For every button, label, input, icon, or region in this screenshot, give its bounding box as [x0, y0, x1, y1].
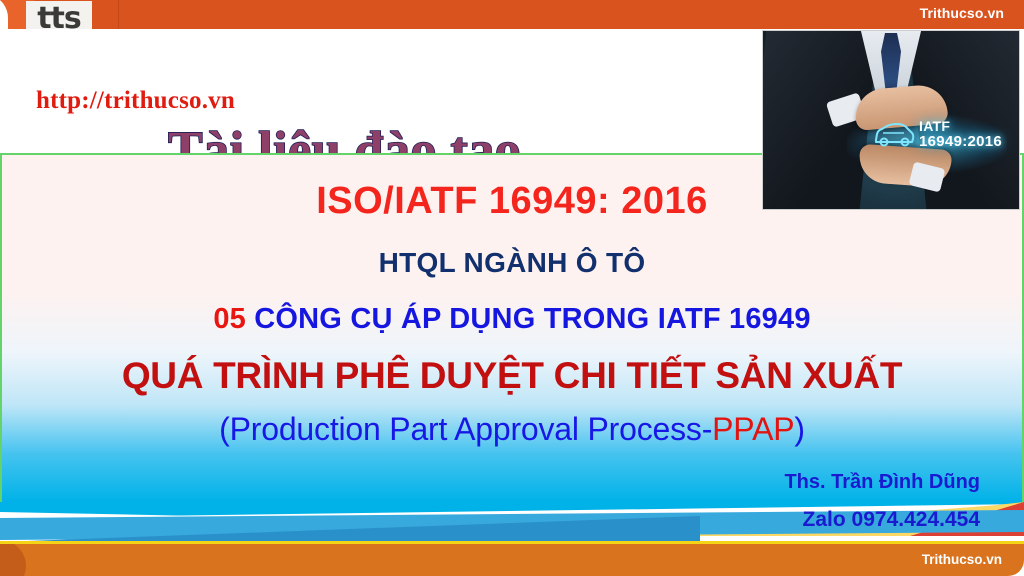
footer-brand-label: Trithucso.vn: [922, 552, 1002, 567]
site-url-link[interactable]: http://trithucso.vn: [36, 87, 235, 115]
car-icon: [873, 121, 915, 147]
photo-overlay-number: 16949:2016: [919, 134, 1002, 150]
photo-overlay-label: IATF: [919, 119, 1002, 134]
top-bar-divider: [118, 0, 119, 29]
author-name: Ths. Trần Đình Dũng: [784, 471, 980, 494]
subtitle-acronym: PPAP: [712, 411, 794, 447]
scope-heading: HTQL NGÀNH Ô TÔ: [2, 247, 1022, 279]
photo-overlay-text: IATF 16949:2016: [919, 119, 1002, 149]
footer-brand-bar: Trithucso.vn: [0, 541, 1024, 576]
main-topic-heading: QUÁ TRÌNH PHÊ DUYỆT CHI TIẾT SẢN XUẤT: [2, 355, 1022, 397]
cover-photo: IATF 16949:2016: [762, 30, 1020, 210]
subtitle-prefix: (Production Part Approval Process-: [219, 411, 712, 447]
tools-count: 05: [213, 303, 246, 335]
top-brand-bar: Trithucso.vn: [0, 0, 1024, 29]
slide-canvas: Trithucso.vn tts TriChucso.vn http://tri…: [0, 0, 1024, 576]
tools-heading-text: CÔNG CỤ ÁP DỤNG TRONG IATF 16949: [246, 303, 811, 335]
logo-wordmark: tts: [37, 6, 81, 32]
tools-heading: 05 CÔNG CỤ ÁP DỤNG TRONG IATF 16949: [2, 303, 1022, 336]
author-contact: Zalo 0974.424.454: [803, 508, 980, 532]
subtitle-suffix: ): [794, 411, 804, 447]
subtitle-heading: (Production Part Approval Process-PPAP): [2, 411, 1022, 448]
top-right-brand-label: Trithucso.vn: [920, 5, 1004, 21]
